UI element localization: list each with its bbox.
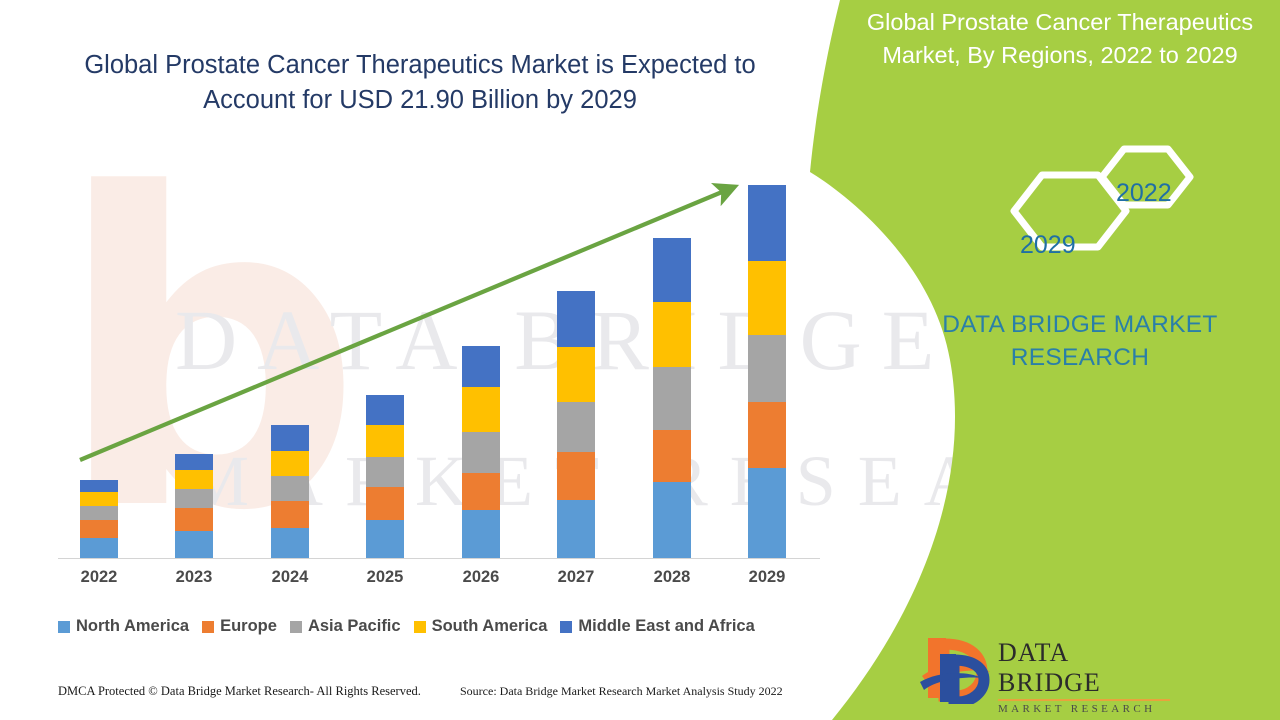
infographic-canvas: b DATA BRIDGE MARKET RESEARCH Global Pro… bbox=[0, 0, 1280, 720]
legend-swatch-icon bbox=[58, 621, 70, 633]
bar-segment-north-america-2023 bbox=[175, 531, 213, 558]
legend-item-europe[interactable]: Europe bbox=[202, 617, 277, 636]
bar-segment-south-america-2029 bbox=[748, 261, 786, 335]
legend-label: Middle East and Africa bbox=[578, 617, 754, 636]
x-axis-labels: 20222023202420252026202720282029 bbox=[0, 568, 860, 598]
brand-heading: DATA BRIDGE MARKET RESEARCH bbox=[910, 308, 1250, 374]
bar-segment-south-america-2028 bbox=[653, 302, 691, 367]
x-axis-label-2027: 2027 bbox=[536, 568, 616, 587]
bar-segment-europe-2023 bbox=[175, 508, 213, 531]
bar-segment-north-america-2026 bbox=[462, 510, 500, 558]
bar-segment-europe-2028 bbox=[653, 430, 691, 482]
footer: DMCA Protected © Data Bridge Market Rese… bbox=[0, 684, 860, 706]
bar-segment-asia-pacific-2027 bbox=[557, 402, 595, 452]
legend-label: Europe bbox=[220, 617, 277, 636]
bar-segment-south-america-2025 bbox=[366, 425, 404, 457]
bar-segment-north-america-2028 bbox=[653, 482, 691, 558]
bar-segment-europe-2024 bbox=[271, 501, 309, 528]
company-logo: DATA BRIDGE MARKET RESEARCH bbox=[920, 632, 1150, 704]
bar-2029 bbox=[748, 185, 786, 558]
bar-2027 bbox=[557, 291, 595, 558]
legend-swatch-icon bbox=[202, 621, 214, 633]
bar-segment-asia-pacific-2025 bbox=[366, 457, 404, 487]
legend-swatch-icon bbox=[414, 621, 426, 633]
hexagon-badges: 2022 2029 bbox=[998, 135, 1208, 295]
bar-segment-europe-2027 bbox=[557, 452, 595, 500]
bar-segment-asia-pacific-2022 bbox=[80, 506, 118, 520]
bar-segment-north-america-2025 bbox=[366, 520, 404, 558]
logo-wordmark: DATA BRIDGE MARKET RESEARCH bbox=[998, 638, 1178, 715]
hex-label-2022: 2022 bbox=[1116, 179, 1172, 208]
chart-legend: North AmericaEuropeAsia PacificSouth Ame… bbox=[58, 617, 848, 636]
bar-segment-asia-pacific-2024 bbox=[271, 476, 309, 501]
bar-segment-north-america-2029 bbox=[748, 468, 786, 558]
bar-segment-south-america-2026 bbox=[462, 387, 500, 432]
bar-segment-asia-pacific-2026 bbox=[462, 432, 500, 473]
legend-item-asia-pacific[interactable]: Asia Pacific bbox=[290, 617, 401, 636]
bar-segment-south-america-2027 bbox=[557, 347, 595, 402]
bar-2025 bbox=[366, 395, 404, 558]
bar-segment-europe-2022 bbox=[80, 520, 118, 538]
hex-label-2029: 2029 bbox=[1020, 231, 1076, 260]
bar-2023 bbox=[175, 454, 213, 558]
bar-2026 bbox=[462, 346, 500, 558]
bar-segment-south-america-2024 bbox=[271, 451, 309, 476]
x-axis-label-2029: 2029 bbox=[727, 568, 807, 587]
x-axis-label-2026: 2026 bbox=[441, 568, 521, 587]
bar-segment-south-america-2023 bbox=[175, 470, 213, 489]
stacked-bar-chart: 20222023202420252026202720282029 bbox=[0, 0, 860, 600]
bar-segment-europe-2029 bbox=[748, 402, 786, 468]
bar-segment-middle-east-and-africa-2024 bbox=[271, 425, 309, 451]
x-axis-line bbox=[58, 558, 820, 559]
x-axis-label-2025: 2025 bbox=[345, 568, 425, 587]
bar-segment-middle-east-and-africa-2026 bbox=[462, 346, 500, 387]
bar-segment-middle-east-and-africa-2028 bbox=[653, 238, 691, 302]
legend-label: North America bbox=[76, 617, 189, 636]
bar-segment-middle-east-and-africa-2029 bbox=[748, 185, 786, 261]
legend-item-north-america[interactable]: North America bbox=[58, 617, 189, 636]
chart-bars-area bbox=[0, 0, 860, 558]
logo-main-text: DATA BRIDGE bbox=[998, 638, 1178, 698]
bar-segment-asia-pacific-2023 bbox=[175, 489, 213, 508]
bar-segment-asia-pacific-2028 bbox=[653, 367, 691, 430]
hexagon-outlines-icon bbox=[998, 135, 1208, 295]
bar-2022 bbox=[80, 480, 118, 558]
dmca-notice: DMCA Protected © Data Bridge Market Rese… bbox=[58, 684, 421, 699]
logo-divider bbox=[998, 699, 1170, 701]
panel-title: Global Prostate Cancer Therapeutics Mark… bbox=[840, 6, 1280, 72]
logo-sub-text: MARKET RESEARCH bbox=[998, 703, 1178, 715]
bar-segment-middle-east-and-africa-2023 bbox=[175, 454, 213, 470]
bar-segment-middle-east-and-africa-2027 bbox=[557, 291, 595, 347]
bar-2024 bbox=[271, 425, 309, 558]
legend-label: South America bbox=[432, 617, 548, 636]
x-axis-label-2024: 2024 bbox=[250, 568, 330, 587]
legend-swatch-icon bbox=[290, 621, 302, 633]
bar-segment-north-america-2024 bbox=[271, 528, 309, 558]
legend-swatch-icon bbox=[560, 621, 572, 633]
legend-item-south-america[interactable]: South America bbox=[414, 617, 548, 636]
x-axis-label-2022: 2022 bbox=[59, 568, 139, 587]
bar-segment-europe-2026 bbox=[462, 473, 500, 510]
bar-2028 bbox=[653, 238, 691, 558]
legend-label: Asia Pacific bbox=[308, 617, 401, 636]
bar-segment-middle-east-and-africa-2022 bbox=[80, 480, 118, 492]
bar-segment-north-america-2022 bbox=[80, 538, 118, 558]
bar-segment-north-america-2027 bbox=[557, 500, 595, 558]
legend-item-middle-east-and-africa[interactable]: Middle East and Africa bbox=[560, 617, 754, 636]
bar-segment-europe-2025 bbox=[366, 487, 404, 520]
bar-segment-middle-east-and-africa-2025 bbox=[366, 395, 404, 425]
bar-segment-asia-pacific-2029 bbox=[748, 335, 786, 402]
bar-segment-south-america-2022 bbox=[80, 492, 118, 506]
x-axis-label-2028: 2028 bbox=[632, 568, 712, 587]
x-axis-label-2023: 2023 bbox=[154, 568, 234, 587]
data-bridge-logo-icon bbox=[920, 632, 994, 704]
source-note: Source: Data Bridge Market Research Mark… bbox=[460, 684, 783, 699]
